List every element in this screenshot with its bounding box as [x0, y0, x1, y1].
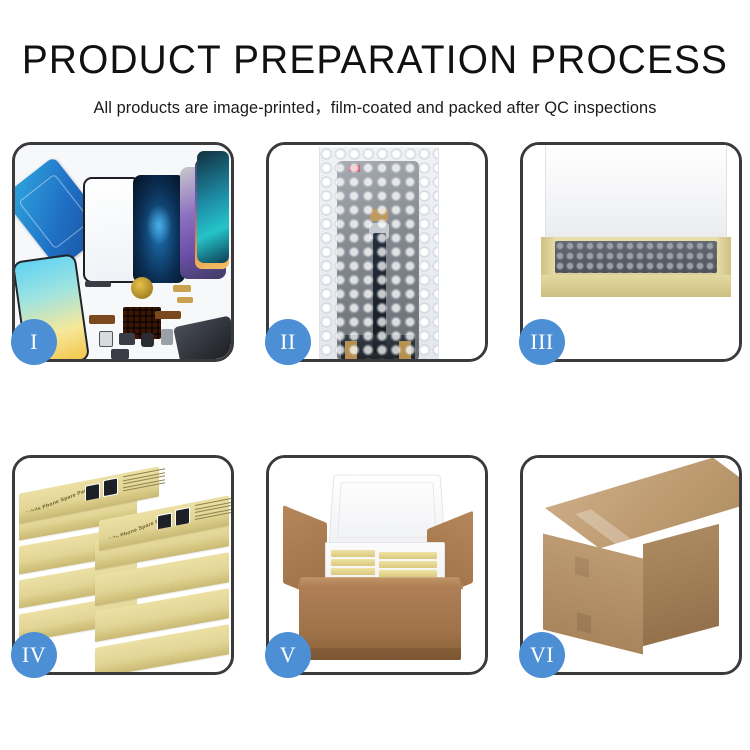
small-part-c-icon — [141, 333, 154, 347]
carton-handle-tab-lower — [577, 612, 591, 633]
step-panel-2: II — [266, 142, 488, 362]
step-badge-5: V — [265, 632, 311, 678]
small-part-e-icon — [111, 349, 129, 359]
yellow-box-8 — [379, 570, 437, 577]
phone-display-teal-icon — [197, 151, 229, 263]
kraft-tray-icon — [541, 237, 731, 297]
yellow-box-1 — [331, 550, 375, 557]
step-badge-4: IV — [11, 632, 57, 678]
carton-right-face — [643, 524, 719, 646]
yellow-box-6 — [379, 552, 437, 559]
gold-tab-icon — [370, 209, 388, 221]
tray-front-panel — [541, 275, 731, 297]
phone-display-jellyfish-icon — [133, 175, 185, 283]
step-panel-1: I — [12, 142, 234, 362]
carton-body-icon — [299, 586, 461, 660]
step-badge-1: I — [11, 319, 57, 365]
flex-cable-icon — [85, 281, 111, 287]
step-panel-5: V — [266, 455, 488, 675]
step-badge-3: III — [519, 319, 565, 365]
red-label-icon — [349, 165, 360, 172]
small-part-b-icon — [119, 333, 135, 345]
step-badge-2: II — [265, 319, 311, 365]
lcd-bottom-tab-left-icon — [345, 341, 357, 359]
spare-parts-cluster — [81, 275, 231, 359]
product-preparation-page: PRODUCT PREPARATION PROCESS All products… — [0, 0, 750, 750]
step-badge-6: VI — [519, 632, 565, 678]
lcd-bottom-tab-right-icon — [399, 341, 411, 359]
small-part-a-icon — [99, 331, 113, 347]
phone-back-housing-icon — [173, 315, 231, 359]
step-panel-3: III — [520, 142, 742, 362]
yellow-box-2 — [331, 559, 375, 566]
coil-part-icon — [131, 277, 153, 299]
carton-handle-tab-upper — [575, 556, 589, 577]
copper-flex-icon — [89, 315, 115, 324]
bubble-wrapped-contents-icon — [555, 241, 717, 273]
copper-flex-two-icon — [155, 311, 181, 319]
yellow-box-3 — [331, 568, 375, 575]
small-part-d-icon — [161, 329, 173, 345]
gold-flex-icon — [173, 285, 191, 292]
step-panel-4: Mobile Phone Spare Parts Mobile Phone Sp… — [12, 455, 234, 675]
step-panel-6: VI — [520, 455, 742, 675]
shipping-carton-icon — [531, 474, 731, 658]
gold-flex-small-icon — [177, 297, 193, 303]
yellow-box-7 — [379, 561, 437, 568]
process-steps-grid: I II — [0, 0, 750, 750]
